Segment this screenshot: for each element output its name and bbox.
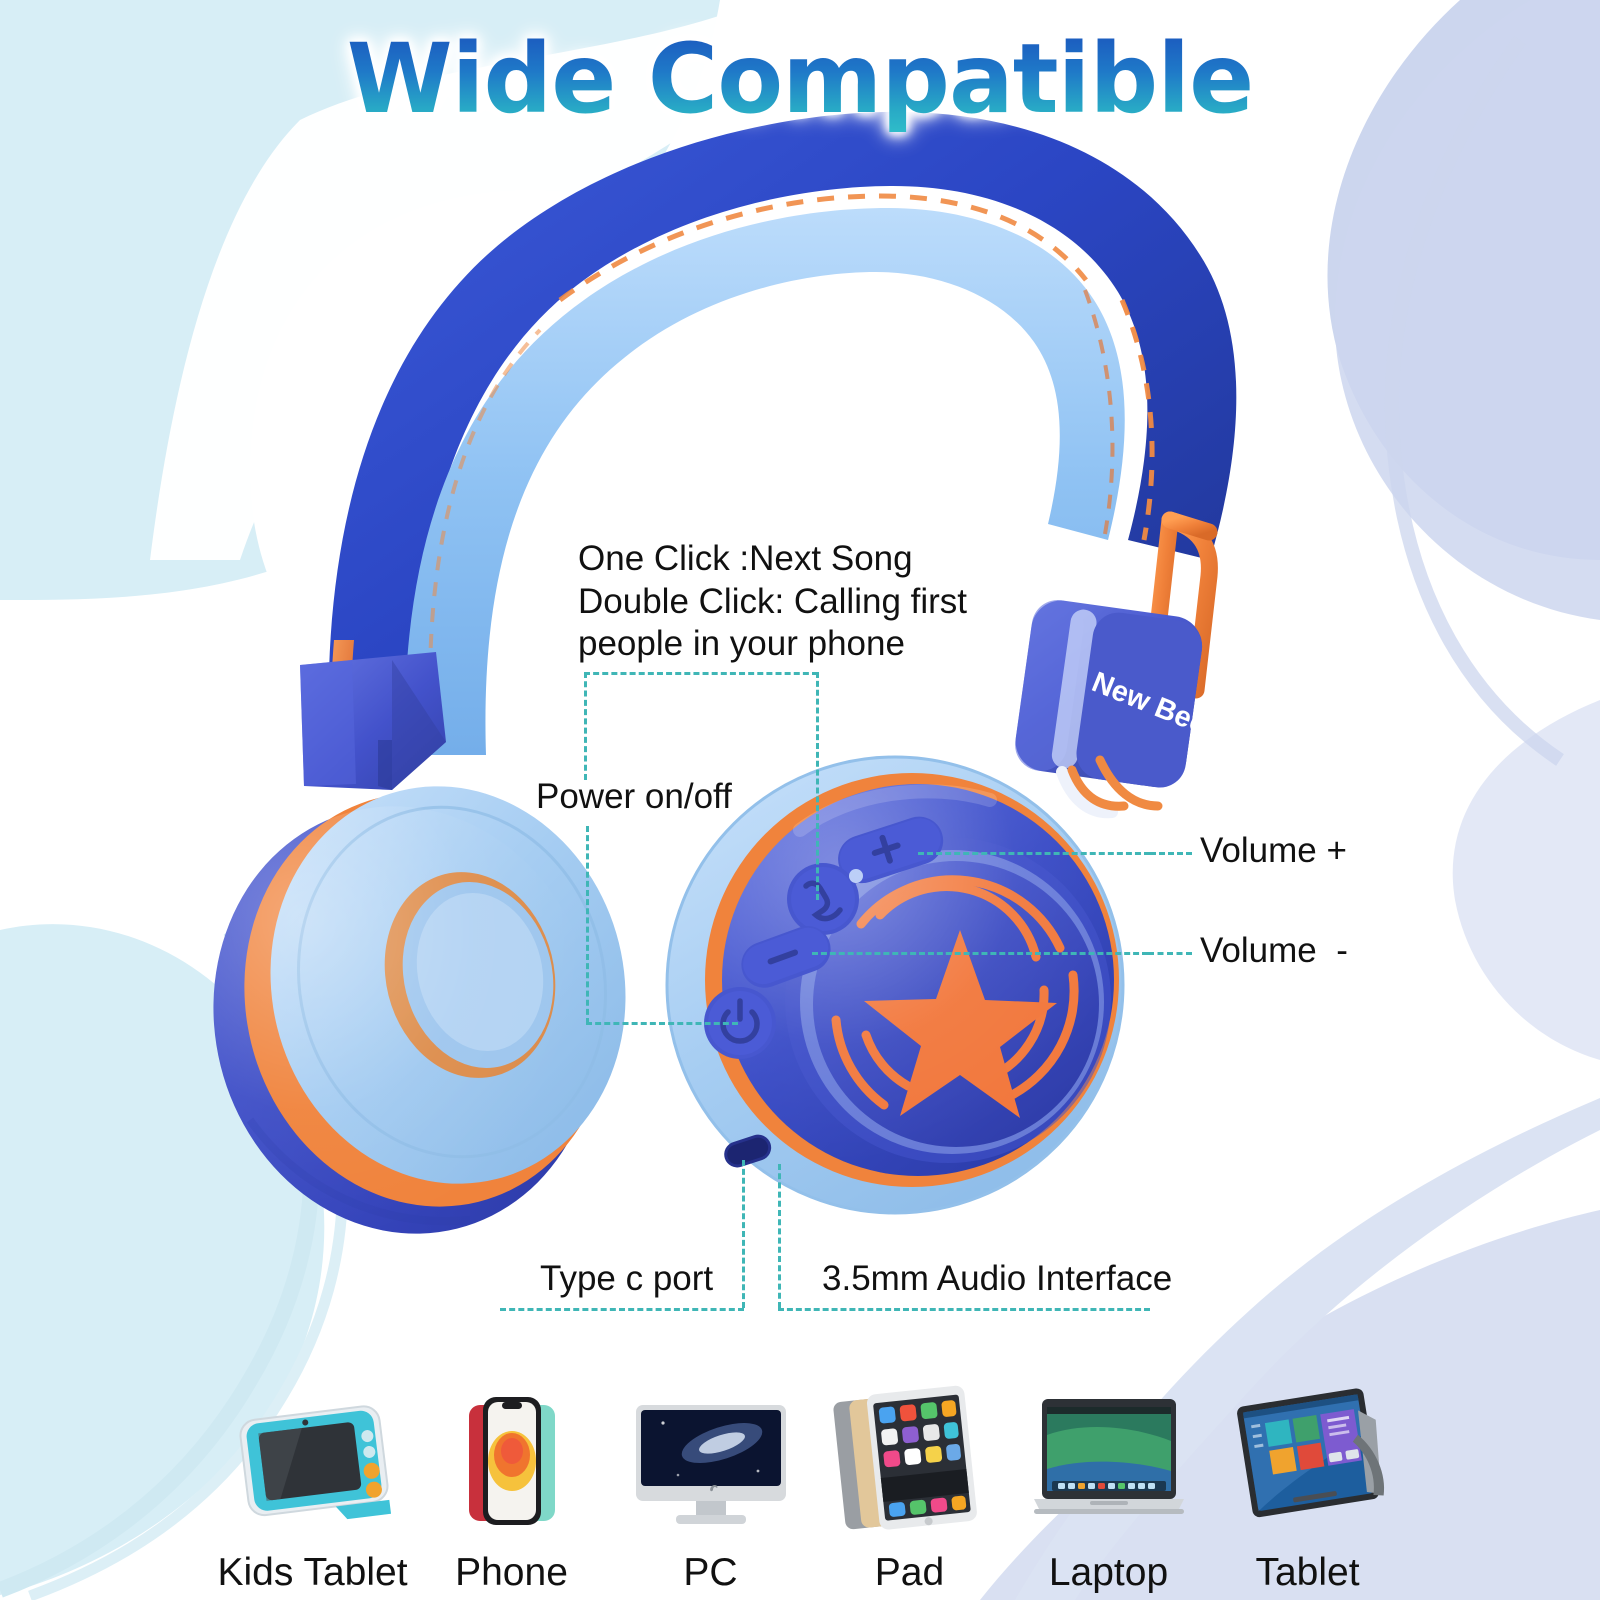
- device-item-pc: PC: [618, 1378, 803, 1595]
- callout-volume-down: Volume -: [1200, 930, 1348, 973]
- page-title: Wide Compatible: [347, 28, 1254, 132]
- compatible-devices-row: Kids Tablet Phone: [220, 1345, 1400, 1595]
- callout-type-c-port: Type c port: [540, 1258, 713, 1301]
- device-item-pad: Pad: [817, 1378, 1002, 1595]
- leader-line-power-vertical: [586, 826, 589, 1024]
- device-label: PC: [683, 1551, 737, 1595]
- leader-line-audio-vertical: [778, 1164, 781, 1308]
- infographic-root: Wide Compatible: [0, 0, 1600, 1600]
- callout-power: Power on/off: [536, 776, 732, 819]
- windows-tablet-icon: [1215, 1378, 1400, 1533]
- leader-line-volume-down-inner: [812, 952, 1148, 955]
- leader-line-volume-up-inner: [918, 852, 1150, 855]
- leader-line-typec-underline: [500, 1308, 744, 1311]
- device-label: Phone: [455, 1551, 568, 1595]
- device-item-laptop: Laptop: [1016, 1378, 1201, 1595]
- callout-volume-up: Volume +: [1200, 830, 1347, 873]
- device-label: Kids Tablet: [217, 1551, 407, 1595]
- leader-line-volume-up: [1150, 852, 1192, 855]
- leader-line-audio-underline: [778, 1308, 1150, 1311]
- leader-line-click-horizontal: [584, 672, 818, 675]
- title-container: Wide Compatible: [0, 28, 1600, 132]
- callout-audio-interface: 3.5mm Audio Interface: [822, 1258, 1172, 1301]
- laptop-icon: [1016, 1378, 1201, 1533]
- phone-icon: [419, 1378, 604, 1533]
- device-label: Tablet: [1255, 1551, 1359, 1595]
- device-label: Laptop: [1049, 1551, 1168, 1595]
- leader-line-volume-down: [1148, 952, 1192, 955]
- device-item-phone: Phone: [419, 1378, 604, 1595]
- kids-tablet-icon: [220, 1378, 405, 1533]
- leader-line-click-down: [816, 672, 819, 900]
- device-item-tablet: Tablet: [1215, 1378, 1400, 1595]
- device-label: Pad: [875, 1551, 944, 1595]
- leader-line-power: [586, 1022, 738, 1025]
- desktop-computer-icon: [618, 1378, 803, 1533]
- callout-click-instructions: One Click :Next Song Double Click: Calli…: [578, 538, 967, 666]
- leader-line-click-vertical: [584, 672, 587, 780]
- tablet-pad-icon: [817, 1378, 1002, 1533]
- device-item-kids-tablet: Kids Tablet: [220, 1378, 405, 1595]
- leader-line-typec-vertical: [742, 1160, 745, 1308]
